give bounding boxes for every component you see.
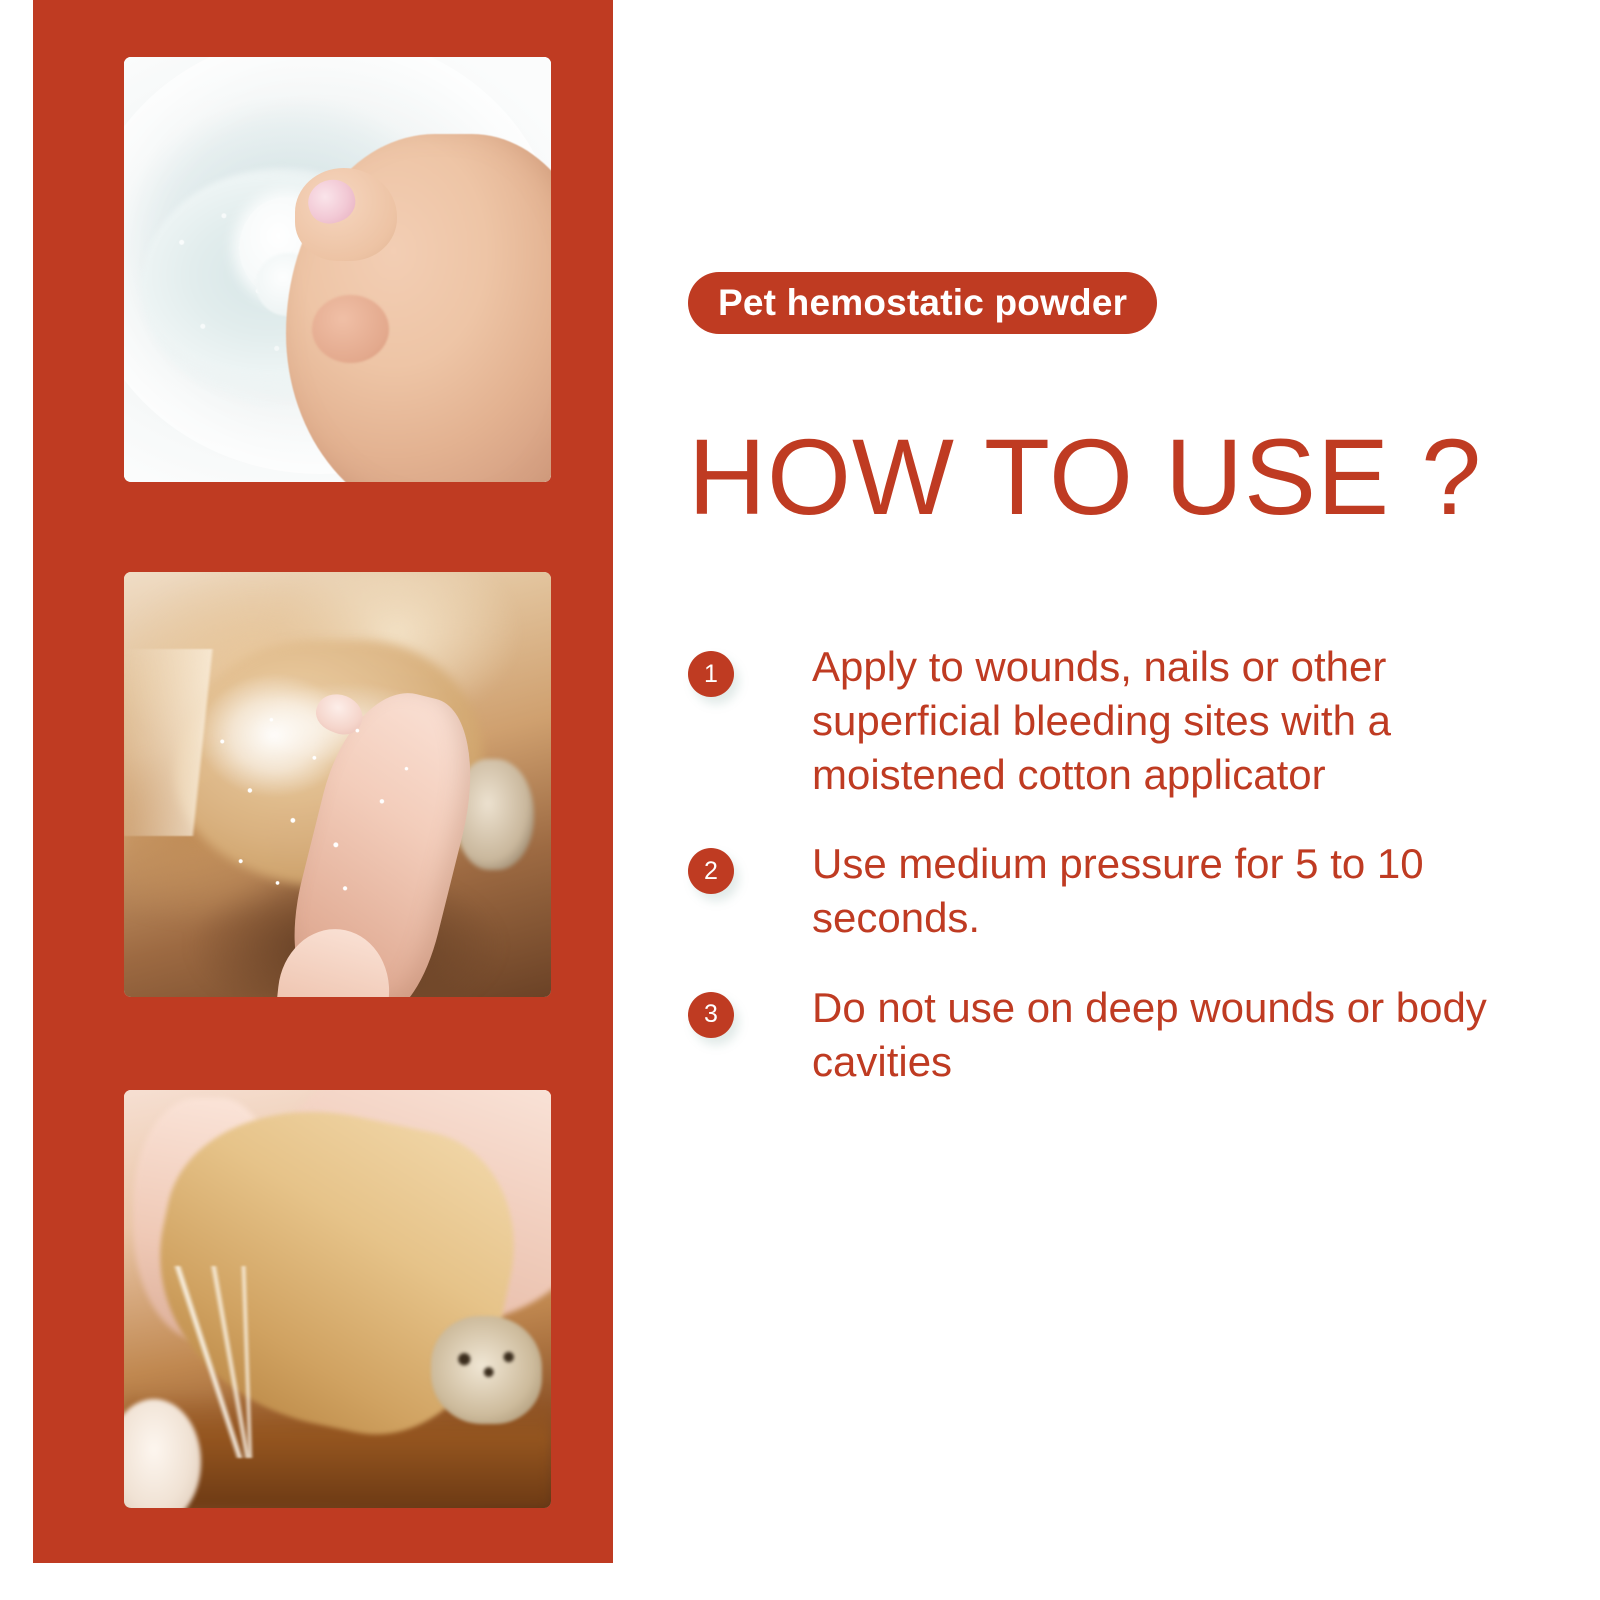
- step-text: Do not use on deep wounds or body caviti…: [812, 981, 1538, 1089]
- page-title: HOW TO USE ?: [688, 418, 1482, 537]
- applying-powder-photo: [124, 572, 551, 997]
- step-text: Apply to wounds, nails or other superfic…: [812, 640, 1538, 801]
- cat-whiskers: [124, 1266, 303, 1458]
- product-name-label: Pet hemostatic powder: [718, 282, 1127, 324]
- step-number-badge: 3: [688, 992, 734, 1038]
- powder-sparkles: [167, 649, 474, 921]
- list-item: 2 Use medium pressure for 5 to 10 second…: [688, 837, 1538, 945]
- powder-jar-photo: [124, 57, 551, 482]
- product-name-badge: Pet hemostatic powder: [688, 272, 1157, 334]
- step-number-badge: 2: [688, 848, 734, 894]
- infographic-canvas: Pet hemostatic powder HOW TO USE ? 1 App…: [0, 0, 1600, 1600]
- holding-paw-photo: [124, 1090, 551, 1508]
- list-item: 3 Do not use on deep wounds or body cavi…: [688, 981, 1538, 1089]
- finger: [312, 295, 389, 363]
- step-number-badge: 1: [688, 651, 734, 697]
- step-text: Use medium pressure for 5 to 10 seconds.: [812, 837, 1538, 945]
- steps-list: 1 Apply to wounds, nails or other superf…: [688, 640, 1538, 1124]
- cat-claws: [431, 1316, 542, 1425]
- list-item: 1 Apply to wounds, nails or other superf…: [688, 640, 1538, 801]
